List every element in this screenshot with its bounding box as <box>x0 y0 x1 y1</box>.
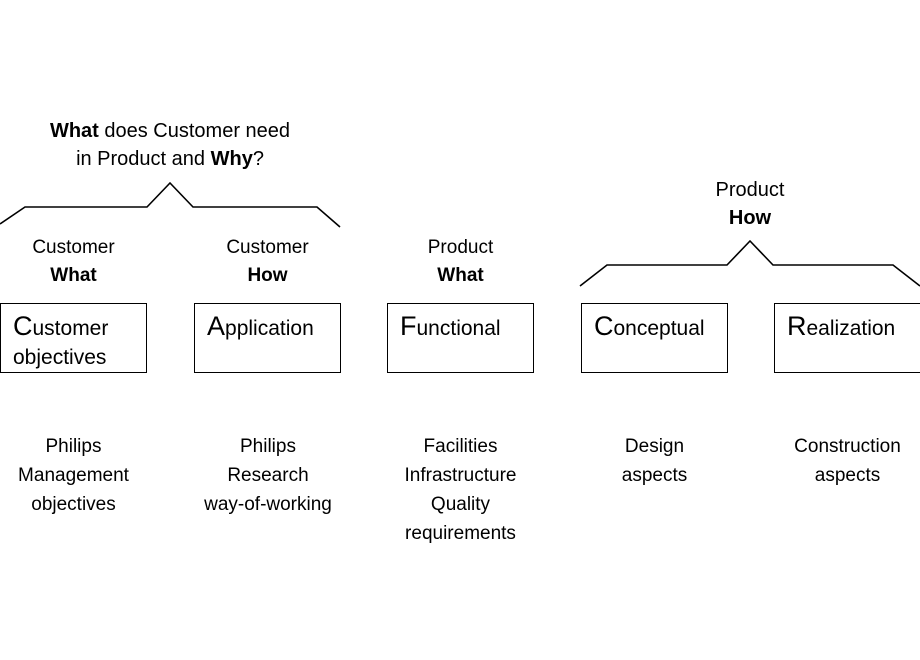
customer-question-what: What <box>50 120 99 142</box>
aspects-customer-objectives-line3: objectives <box>0 490 152 519</box>
customer-question-why: Why <box>211 148 253 170</box>
customer-question-line1: What does Customer need <box>0 117 340 145</box>
column-header-customer-what-line2: What <box>0 262 147 290</box>
column-header-customer-how-line2: How <box>194 262 341 290</box>
product-how-line2: How <box>580 204 920 232</box>
view-box-customer-objectives-line2: objectives <box>13 343 146 372</box>
view-box-application-initial: A <box>207 311 225 341</box>
view-box-functional-line1: Functional <box>400 312 533 343</box>
view-box-conceptual: Conceptual <box>581 303 728 373</box>
view-box-conceptual-rest: onceptual <box>614 317 705 340</box>
view-box-functional-rest: unctional <box>417 317 501 340</box>
view-box-functional-initial: F <box>400 311 417 341</box>
aspects-realization-line2: aspects <box>770 461 920 490</box>
customer-question-line2-pre: in Product and <box>76 148 211 170</box>
column-header-product-what-line2: What <box>387 262 534 290</box>
aspects-customer-objectives: Philips Management objectives <box>0 432 152 519</box>
product-how-line1: Product <box>580 176 920 204</box>
aspects-functional-line4: requirements <box>382 519 539 548</box>
view-box-application: Application <box>194 303 341 373</box>
product-bracket-icon <box>580 241 920 286</box>
aspects-realization: Construction aspects <box>770 432 920 490</box>
aspects-customer-objectives-line2: Management <box>0 461 152 490</box>
aspects-functional: Facilities Infrastructure Quality requir… <box>382 432 539 548</box>
column-header-product-what: Product What <box>387 234 534 290</box>
column-header-customer-what-line1: Customer <box>0 234 147 262</box>
column-header-customer-how-line1: Customer <box>194 234 341 262</box>
aspects-conceptual: Design aspects <box>581 432 728 490</box>
view-box-customer-objectives: Customer objectives <box>0 303 147 373</box>
view-box-realization-initial: R <box>787 311 807 341</box>
view-box-application-line1: Application <box>207 312 340 343</box>
product-how-caption: Product How <box>580 176 920 232</box>
aspects-application-line3: way-of-working <box>188 490 348 519</box>
aspects-application-line2: Research <box>188 461 348 490</box>
view-box-realization-rest: ealization <box>807 317 896 340</box>
view-box-realization-line1: Realization <box>787 312 920 343</box>
aspects-functional-line1: Facilities <box>382 432 539 461</box>
view-box-customer-objectives-initial: C <box>13 311 33 341</box>
cafcr-diagram: What does Customer need in Product and W… <box>0 0 920 660</box>
view-box-functional: Functional <box>387 303 534 373</box>
aspects-application-line1: Philips <box>188 432 348 461</box>
customer-question-line2-post: ? <box>253 148 264 170</box>
aspects-conceptual-line2: aspects <box>581 461 728 490</box>
view-box-customer-objectives-rest: ustomer <box>33 317 109 340</box>
aspects-customer-objectives-line1: Philips <box>0 432 152 461</box>
aspects-application: Philips Research way-of-working <box>188 432 348 519</box>
aspects-functional-line3: Quality <box>382 490 539 519</box>
aspects-conceptual-line1: Design <box>581 432 728 461</box>
view-box-application-rest: pplication <box>225 317 314 340</box>
aspects-functional-line2: Infrastructure <box>382 461 539 490</box>
aspects-realization-line1: Construction <box>770 432 920 461</box>
customer-question-line1-rest: does Customer need <box>99 120 290 142</box>
customer-question-caption: What does Customer need in Product and W… <box>0 117 340 173</box>
column-header-product-what-line1: Product <box>387 234 534 262</box>
view-box-conceptual-initial: C <box>594 311 614 341</box>
column-header-customer-how: Customer How <box>194 234 341 290</box>
view-box-realization: Realization <box>774 303 920 373</box>
customer-question-line2: in Product and Why? <box>0 145 340 173</box>
view-box-conceptual-line1: Conceptual <box>594 312 727 343</box>
view-box-customer-objectives-line1: Customer <box>13 312 146 343</box>
column-header-customer-what: Customer What <box>0 234 147 290</box>
customer-bracket-icon <box>0 183 340 227</box>
